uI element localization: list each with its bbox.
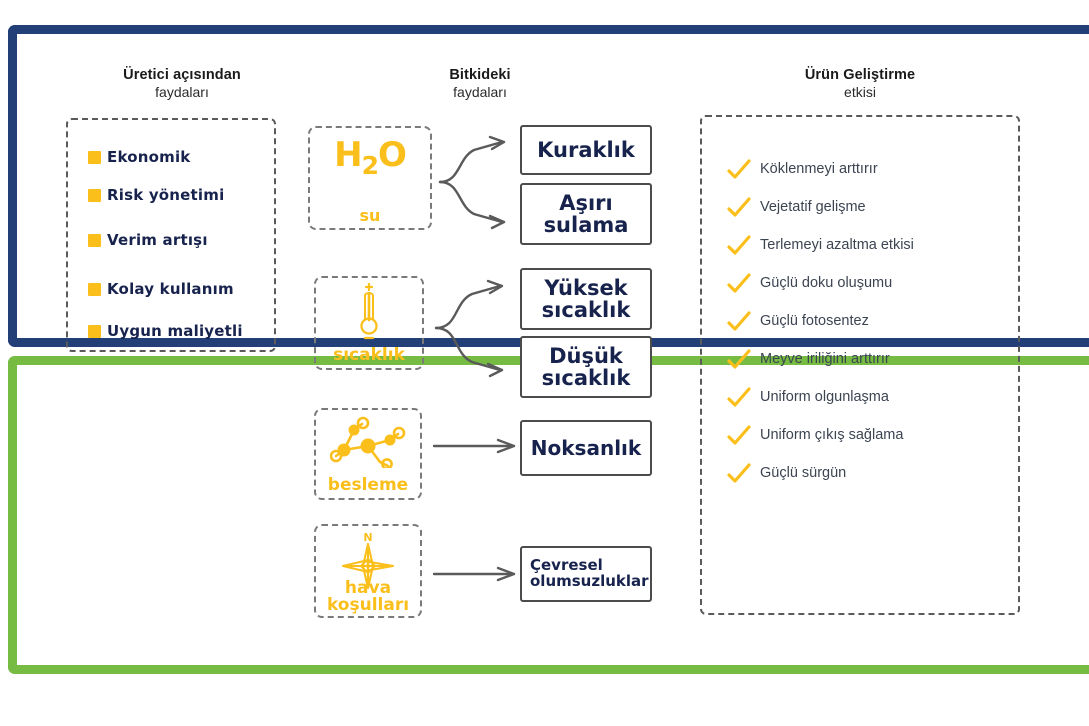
compass-north-letter: N	[363, 531, 372, 544]
square-bullet-icon	[88, 325, 101, 338]
list-item: Terlemeyi azaltma etkisi	[726, 226, 1016, 264]
list-item: Verim artışı	[88, 214, 284, 266]
list-item: Meyve iriliğini arttırır	[726, 340, 1016, 378]
plant-title-line2: faydaları	[380, 84, 580, 102]
list-item: Güçlü doku oluşumu	[726, 264, 1016, 302]
producer-item-label: Verim artışı	[107, 231, 208, 249]
factor-caption-weather: hava koşulları	[316, 580, 420, 614]
check-icon	[726, 460, 752, 486]
product-title-line1: Ürün Geliştirme	[700, 66, 1020, 84]
list-item: Güçlü fotosentez	[726, 302, 1016, 340]
branch-arrow-icon-water	[438, 128, 520, 236]
product-item-label: Uniform çıkış sağlama	[760, 427, 903, 443]
factor-caption-nutrition: besleme	[316, 477, 420, 494]
check-icon	[726, 308, 752, 334]
product-item-label: Köklenmeyi arttırır	[760, 161, 878, 177]
list-item: Ekonomik	[88, 138, 284, 176]
result-box-text: Aşırı sulama	[536, 192, 636, 236]
check-icon	[726, 156, 752, 182]
result-box-text: Düşük sıcaklık	[534, 345, 638, 389]
plant-title-line1: Bitkideki	[380, 66, 580, 84]
thermometer-icon	[352, 280, 386, 344]
producer-benefits-list: Ekonomik Risk yönetimi Verim artışı Kola…	[88, 138, 284, 350]
list-item: Uniform çıkış sağlama	[726, 416, 1016, 454]
check-icon	[726, 270, 752, 296]
square-bullet-icon	[88, 189, 101, 202]
result-box-cevresel-olumsuzluklar: Çevresel olumsuzluklar	[520, 546, 652, 602]
h2o-formula-icon: H2O	[334, 138, 406, 178]
result-box-noksanlik: Noksanlık	[520, 420, 652, 476]
producer-item-label: Risk yönetimi	[107, 186, 224, 204]
list-item: Uniform olgunlaşma	[726, 378, 1016, 416]
straight-arrow-icon-weather	[432, 562, 522, 586]
product-item-label: Güçlü doku oluşumu	[760, 275, 892, 291]
list-item: Uygun maliyetli	[88, 312, 284, 350]
product-item-label: Güçlü sürgün	[760, 465, 846, 481]
check-icon	[726, 346, 752, 372]
product-item-label: Vejetatif gelişme	[760, 199, 866, 215]
check-icon	[726, 232, 752, 258]
weather-caption-line2: koşulları	[316, 597, 420, 614]
check-icon	[726, 422, 752, 448]
square-bullet-icon	[88, 283, 101, 296]
producer-item-label: Kolay kullanım	[107, 280, 234, 298]
result-box-dusuk-sicaklik: Düşük sıcaklık	[520, 336, 652, 398]
factor-card-weather: N hava koşulları	[314, 524, 422, 618]
molecule-icon	[330, 416, 406, 468]
product-effects-list: Köklenmeyi arttırır Vejetatif gelişme Te…	[726, 150, 1016, 492]
producer-item-label: Ekonomik	[107, 148, 190, 166]
producer-title-line1: Üretici açısından	[62, 66, 302, 84]
producer-title-line2: faydaları	[62, 84, 302, 102]
result-box-text: Yüksek sıcaklık	[534, 277, 638, 321]
factor-caption-water: su	[310, 208, 430, 224]
square-bullet-icon	[88, 151, 101, 164]
list-item: Güçlü sürgün	[726, 454, 1016, 492]
column-heading-product: Ürün Geliştirme etkisi	[700, 66, 1020, 102]
column-heading-producer: Üretici açısından faydaları	[62, 66, 302, 102]
producer-item-label: Uygun maliyetli	[107, 322, 243, 340]
diagram-canvas: Üretici açısından faydaları Bitkideki fa…	[0, 0, 1089, 726]
list-item: Risk yönetimi	[88, 176, 284, 214]
check-icon	[726, 384, 752, 410]
column-heading-plant: Bitkideki faydaları	[380, 66, 580, 102]
factor-card-nutrition: besleme	[314, 408, 422, 500]
product-item-label: Terlemeyi azaltma etkisi	[760, 237, 914, 253]
product-item-label: Meyve iriliğini arttırır	[760, 351, 890, 367]
result-box-kuraklik: Kuraklık	[520, 125, 652, 175]
result-box-text: Çevresel olumsuzluklar	[530, 558, 646, 590]
product-item-label: Güçlü fotosentez	[760, 313, 869, 329]
list-item: Köklenmeyi arttırır	[726, 150, 1016, 188]
result-box-yuksek-sicaklik: Yüksek sıcaklık	[520, 268, 652, 330]
straight-arrow-icon-nutrition	[432, 434, 522, 458]
factor-caption-temperature: sıcaklık	[316, 347, 422, 364]
list-item: Vejetatif gelişme	[726, 188, 1016, 226]
product-title-line2: etkisi	[700, 84, 1020, 102]
factor-card-water: H2O su	[308, 126, 432, 230]
factor-card-temperature: sıcaklık	[314, 276, 424, 370]
result-box-asiri-sulama: Aşırı sulama	[520, 183, 652, 245]
branch-arrow-icon-temperature	[432, 272, 520, 384]
check-icon	[726, 194, 752, 220]
list-item: Kolay kullanım	[88, 266, 284, 312]
product-item-label: Uniform olgunlaşma	[760, 389, 889, 405]
square-bullet-icon	[88, 234, 101, 247]
